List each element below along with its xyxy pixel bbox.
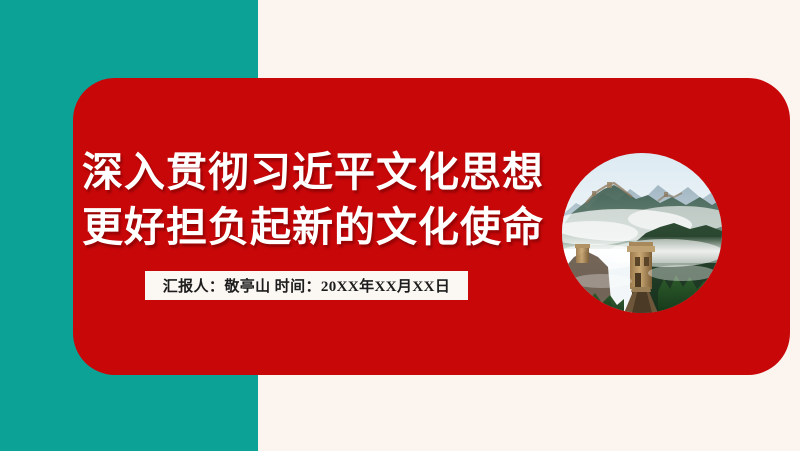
great-wall-illustration: [562, 153, 722, 313]
title-block: 深入贯彻习近平文化思想 更好担负起新的文化使命: [82, 145, 532, 255]
presentation-slide: 深入贯彻习近平文化思想 更好担负起新的文化使命 汇报人：敬亭山 时间：20XX年…: [0, 0, 800, 451]
subtitle-bar: 汇报人：敬亭山 时间：20XX年XX月XX日: [145, 271, 468, 300]
title-line-1: 深入贯彻习近平文化思想: [82, 145, 532, 200]
great-wall-photo: [562, 153, 722, 313]
subtitle-text: 汇报人：敬亭山 时间：20XX年XX月XX日: [163, 275, 451, 296]
title-line-2: 更好担负起新的文化使命: [82, 200, 532, 255]
